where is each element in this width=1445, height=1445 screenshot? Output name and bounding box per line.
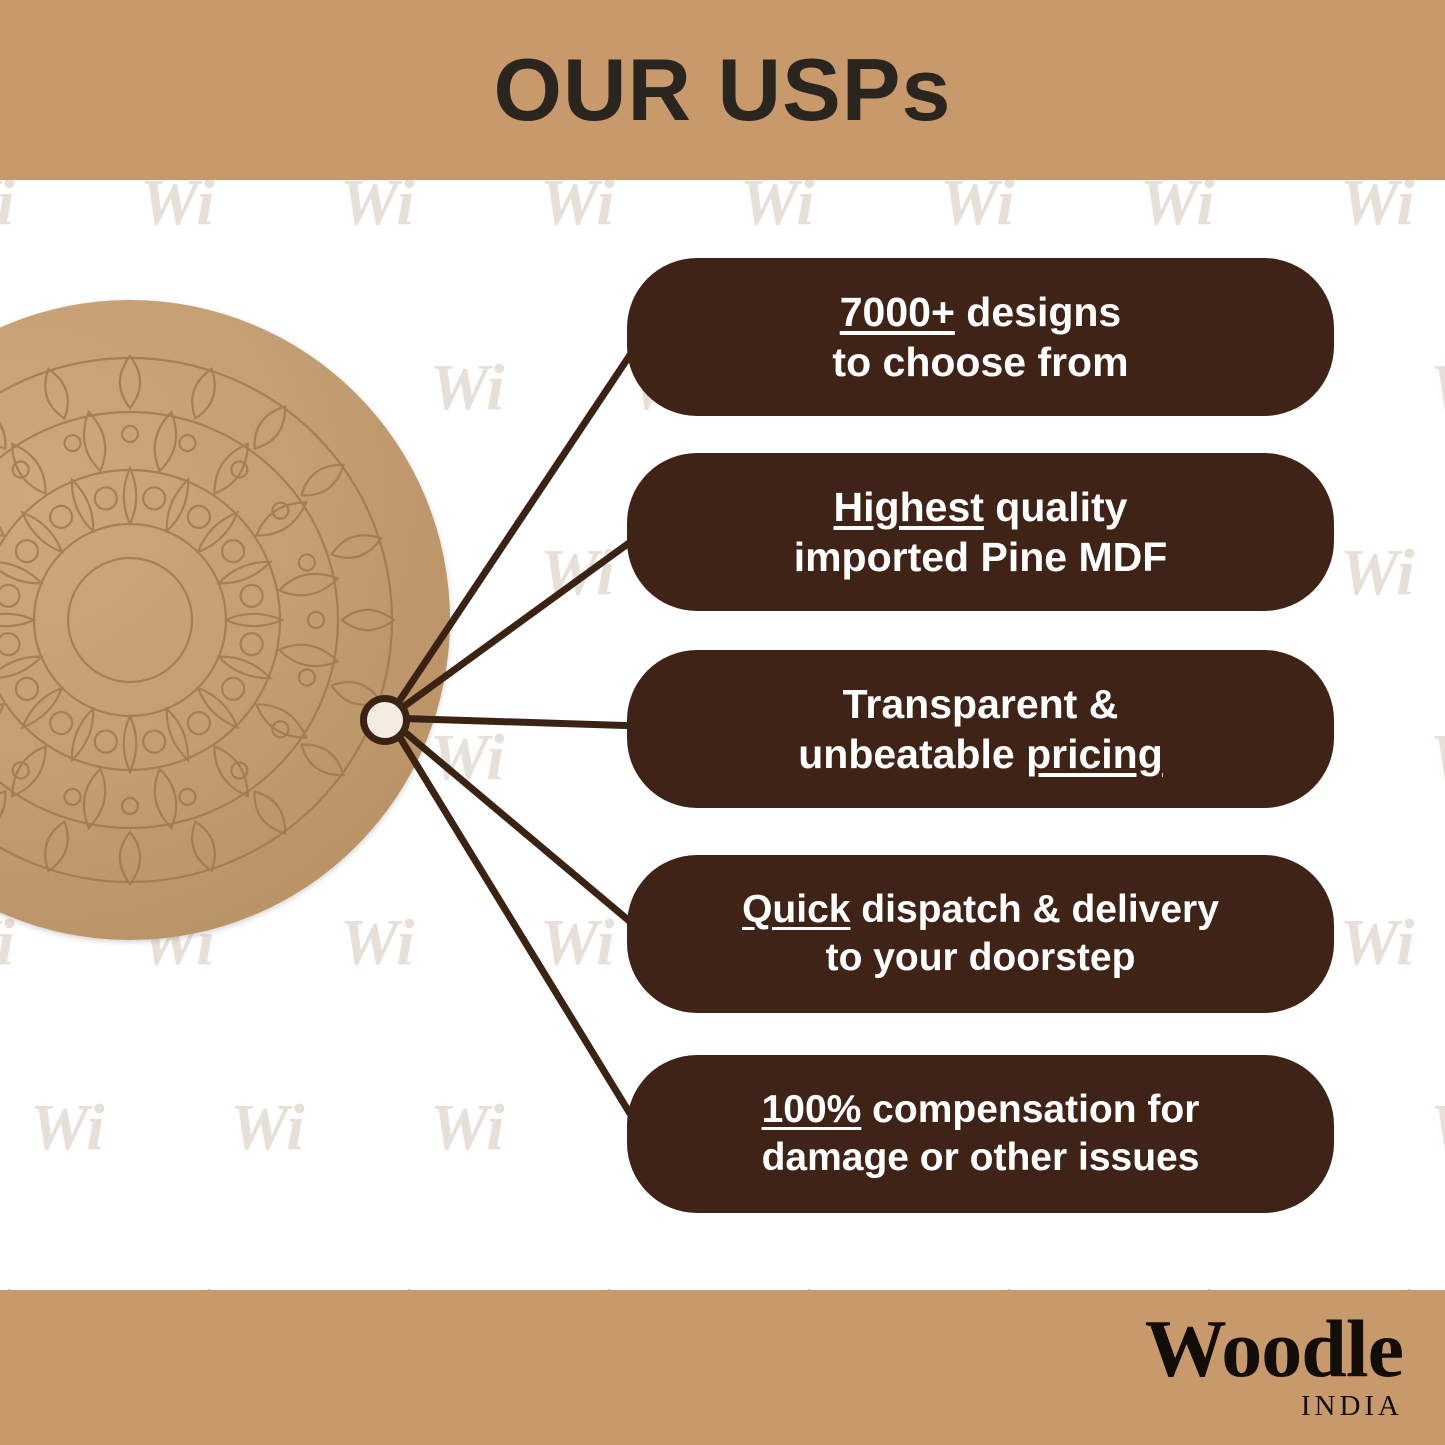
watermark-text: Wi — [1340, 540, 1415, 606]
usp-text-2: Highest qualityimported Pine MDF — [794, 482, 1168, 582]
watermark-text: Wi — [30, 1095, 105, 1161]
watermark-text: Wi — [540, 540, 615, 606]
watermark-text: Wi — [1430, 725, 1445, 791]
brand-logo: Woodle INDIA — [1145, 1310, 1403, 1423]
usp-text-5: 100% compensation fordamage or other iss… — [762, 1086, 1200, 1181]
watermark-text: Wi — [1430, 355, 1445, 421]
usp-item-1: 7000+ designsto choose from — [627, 258, 1334, 416]
watermark-text: Wi — [1340, 910, 1415, 976]
page-title: OUR USPs — [0, 0, 1445, 180]
usp-item-3: Transparent &unbeatable pricing — [627, 650, 1334, 808]
watermark-text: Wi — [140, 180, 215, 236]
watermark-text: Wi — [430, 1095, 505, 1161]
watermark-text: Wi — [540, 180, 615, 236]
watermark-text: Wi — [1140, 180, 1215, 236]
watermark-text: Wi — [1340, 180, 1415, 236]
watermark-text: Wi — [1430, 1095, 1445, 1161]
watermark-text: Wi — [740, 180, 815, 236]
brand-subtitle: INDIA — [1145, 1390, 1403, 1423]
brand-name: Woodle — [1145, 1310, 1403, 1388]
watermark-text: Wi — [0, 1280, 15, 1290]
usp-text-4: Quick dispatch & deliveryto your doorste… — [742, 886, 1219, 981]
usp-item-5: 100% compensation fordamage or other iss… — [627, 1055, 1334, 1213]
usp-infographic: OUR USPs WiWiWiWiWiWiWiWiWiWiWiWiWiWiWiW… — [0, 0, 1445, 1445]
watermark-text: Wi — [140, 1280, 215, 1290]
usp-item-4: Quick dispatch & deliveryto your doorste… — [627, 855, 1334, 1013]
watermark-text: Wi — [740, 1280, 815, 1290]
usp-text-1: 7000+ designsto choose from — [832, 287, 1128, 387]
watermark-text: Wi — [0, 180, 15, 236]
watermark-text: Wi — [340, 180, 415, 236]
usp-item-2: Highest qualityimported Pine MDF — [627, 453, 1334, 611]
watermark-text: Wi — [540, 910, 615, 976]
usp-text-3: Transparent &unbeatable pricing — [798, 679, 1163, 779]
watermark-text: Wi — [340, 1280, 415, 1290]
watermark-text: Wi — [230, 1095, 305, 1161]
watermark-text: Wi — [1140, 1280, 1215, 1290]
mandala-mdf-board — [0, 300, 450, 940]
watermark-text: Wi — [940, 1280, 1015, 1290]
watermark-text: Wi — [540, 1280, 615, 1290]
hub-node — [360, 695, 410, 745]
watermark-text: Wi — [1340, 1280, 1415, 1290]
watermark-text: Wi — [940, 180, 1015, 236]
